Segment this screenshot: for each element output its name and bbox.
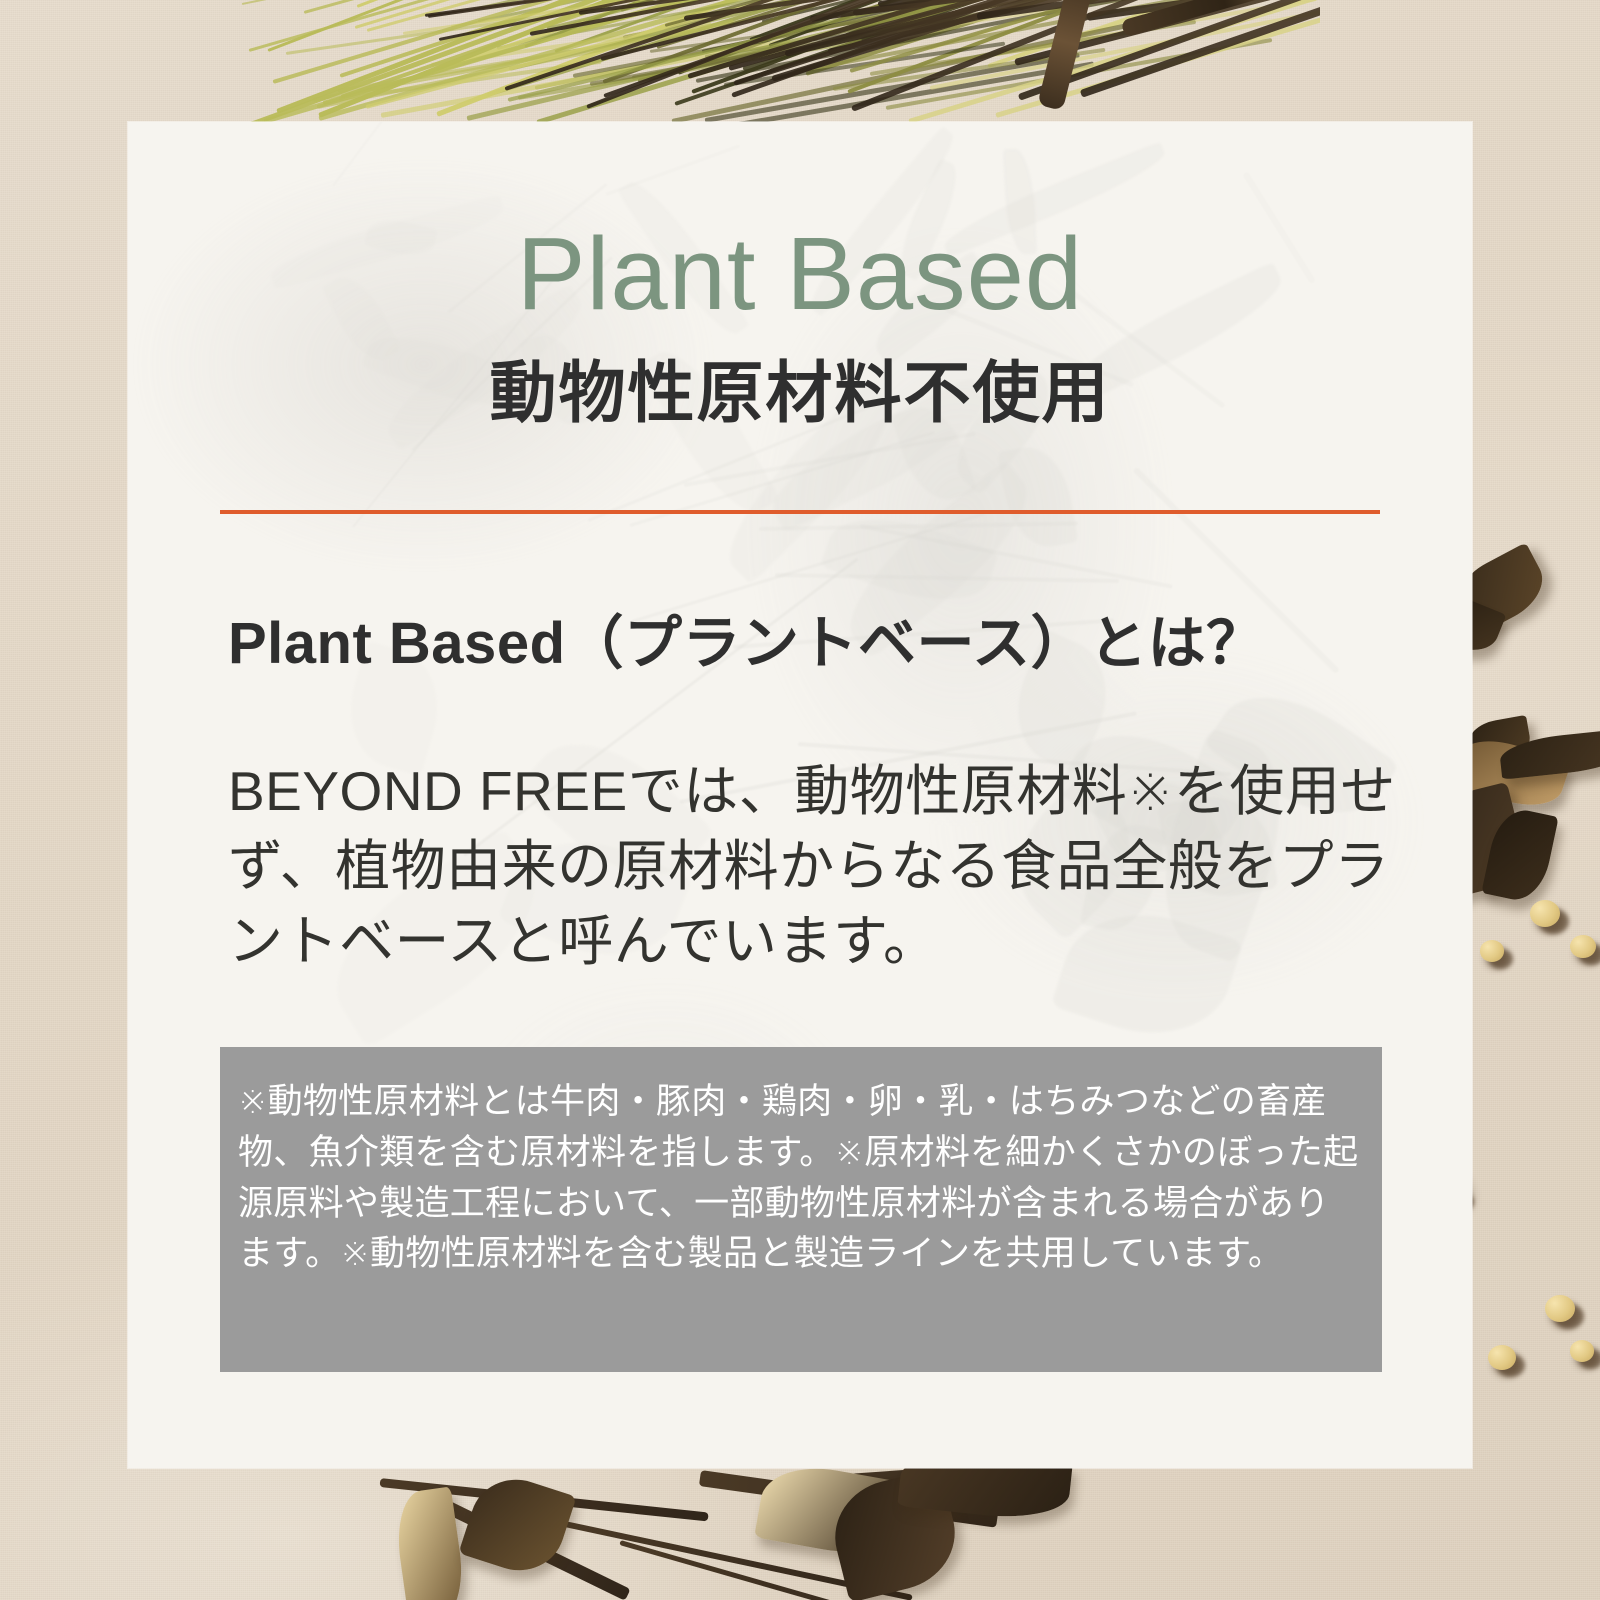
question-heading: Plant Based（プラントベース）とは？ <box>228 615 1265 673</box>
page-title-japanese: 動物性原材料不使用 <box>128 360 1472 427</box>
disclaimer-text: ※動物性原材料とは牛肉・豚肉・鶏肉・卵・乳・はちみつなどの畜産物、魚介類を含む原… <box>238 1077 1364 1280</box>
content-card: Plant Based 動物性原材料不使用 Plant Based（プラントベー… <box>128 122 1472 1468</box>
body-paragraph: BEYOND FREEでは、動物性原材料※を使用せず、植物由来の原材料からなる食… <box>228 754 1408 978</box>
page-title-english: Plant Based <box>128 222 1472 325</box>
disclaimer-box: ※動物性原材料とは牛肉・豚肉・鶏肉・卵・乳・はちみつなどの畜産物、魚介類を含む原… <box>220 1047 1382 1372</box>
dried-grass-decoration <box>0 0 1320 125</box>
promo-graphic: Plant Based 動物性原材料不使用 Plant Based（プラントベー… <box>0 0 1600 1600</box>
section-divider <box>220 510 1380 514</box>
